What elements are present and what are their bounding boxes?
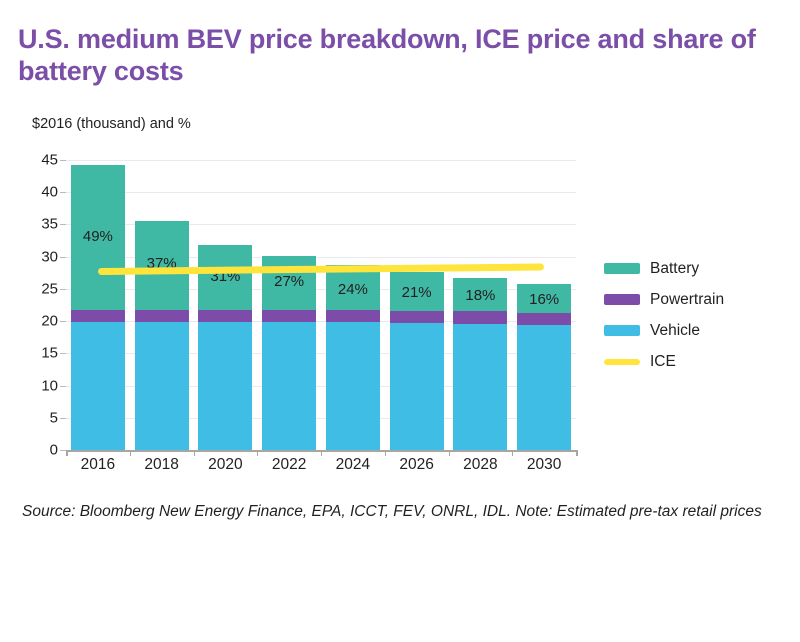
y-tick-40: 40 <box>0 184 58 201</box>
y-tickmark-40 <box>60 192 66 193</box>
bar-segment-vehicle-2026 <box>390 323 444 450</box>
y-tick-30: 30 <box>0 248 58 265</box>
plot-area: 49%37%31%27%24%21%18%16% <box>66 160 576 450</box>
bar-segment-vehicle-2016 <box>71 322 125 450</box>
y-tickmark-0 <box>60 450 66 451</box>
x-tick-2028: 2028 <box>463 456 497 474</box>
bar-2020[interactable] <box>198 160 252 450</box>
legend-label-vehicle: Vehicle <box>650 322 700 340</box>
x-tick-2026: 2026 <box>399 456 433 474</box>
x-tickmark-5 <box>449 450 450 456</box>
bar-segment-powertrain-2024 <box>326 310 380 322</box>
bar-label-2016: 49% <box>83 228 113 245</box>
y-tickmark-35 <box>60 224 66 225</box>
y-tickmark-10 <box>60 386 66 387</box>
source-note: Source: Bloomberg New Energy Finance, EP… <box>22 500 762 523</box>
y-tick-0: 0 <box>0 442 58 459</box>
legend-item-powertrain[interactable]: Powertrain <box>604 284 794 315</box>
bar-label-2028: 18% <box>465 287 495 304</box>
bar-segment-powertrain-2028 <box>453 311 507 323</box>
y-tick-45: 45 <box>0 152 58 169</box>
bar-segment-vehicle-2024 <box>326 322 380 450</box>
x-tickmark-4 <box>385 450 386 456</box>
bar-segment-powertrain-2016 <box>71 310 125 322</box>
y-tick-5: 5 <box>0 409 58 426</box>
bar-segment-vehicle-2028 <box>453 324 507 450</box>
bar-segment-vehicle-2018 <box>135 322 189 450</box>
bar-segment-powertrain-2026 <box>390 311 444 323</box>
bar-2024[interactable] <box>326 160 380 450</box>
bar-label-2026: 21% <box>402 284 432 301</box>
legend-swatch-powertrain-icon <box>604 294 640 305</box>
x-tickmark-6 <box>512 450 513 456</box>
bar-segment-powertrain-2020 <box>198 310 252 322</box>
x-tickmark-3 <box>321 450 322 456</box>
bar-segment-vehicle-2022 <box>262 322 316 450</box>
bar-segment-vehicle-2030 <box>517 325 571 450</box>
x-tickmark-2 <box>257 450 258 456</box>
y-tick-20: 20 <box>0 313 58 330</box>
bar-2022[interactable] <box>262 160 316 450</box>
bar-segment-vehicle-2020 <box>198 322 252 450</box>
y-tick-10: 10 <box>0 377 58 394</box>
x-tick-2020: 2020 <box>208 456 242 474</box>
legend-label-ice: ICE <box>650 353 676 371</box>
legend-swatch-ice-icon <box>604 359 640 365</box>
y-axis-tick-labels: 051015202530354045 <box>0 160 58 450</box>
legend-label-battery: Battery <box>650 260 699 278</box>
bar-2028[interactable] <box>453 160 507 450</box>
bar-2018[interactable] <box>135 160 189 450</box>
x-tick-2016: 2016 <box>81 456 115 474</box>
y-tickmark-25 <box>60 289 66 290</box>
x-tick-2024: 2024 <box>336 456 370 474</box>
x-tickmark-1 <box>194 450 195 456</box>
x-axis-line <box>66 450 578 452</box>
bar-label-2024: 24% <box>338 281 368 298</box>
bar-segment-powertrain-2018 <box>135 310 189 322</box>
legend-swatch-battery-icon <box>604 263 640 274</box>
x-tickmark-0 <box>130 450 131 456</box>
legend-item-battery[interactable]: Battery <box>604 253 794 284</box>
y-tickmark-30 <box>60 257 66 258</box>
y-tickmark-15 <box>60 353 66 354</box>
legend-item-vehicle[interactable]: Vehicle <box>604 315 794 346</box>
y-tickmark-20 <box>60 321 66 322</box>
chart-legend: BatteryPowertrainVehicleICE <box>604 253 794 377</box>
y-axis-unit-label: $2016 (thousand) and % <box>32 116 191 132</box>
y-tick-15: 15 <box>0 345 58 362</box>
legend-swatch-vehicle-icon <box>604 325 640 336</box>
page-title: U.S. medium BEV price breakdown, ICE pri… <box>18 24 778 88</box>
bar-2026[interactable] <box>390 160 444 450</box>
legend-label-powertrain: Powertrain <box>650 291 724 309</box>
y-tickmark-45 <box>60 160 66 161</box>
bar-label-2022: 27% <box>274 273 304 290</box>
bar-segment-powertrain-2030 <box>517 313 571 325</box>
bar-segment-powertrain-2022 <box>262 310 316 322</box>
y-tick-25: 25 <box>0 280 58 297</box>
bar-2016[interactable] <box>71 160 125 450</box>
y-tickmark-5 <box>60 418 66 419</box>
legend-item-ice[interactable]: ICE <box>604 346 794 377</box>
y-tick-35: 35 <box>0 216 58 233</box>
bar-label-2030: 16% <box>529 291 559 308</box>
x-tick-2030: 2030 <box>527 456 561 474</box>
x-tick-2018: 2018 <box>144 456 178 474</box>
x-tick-2022: 2022 <box>272 456 306 474</box>
chart-container: U.S. medium BEV price breakdown, ICE pri… <box>0 0 800 642</box>
